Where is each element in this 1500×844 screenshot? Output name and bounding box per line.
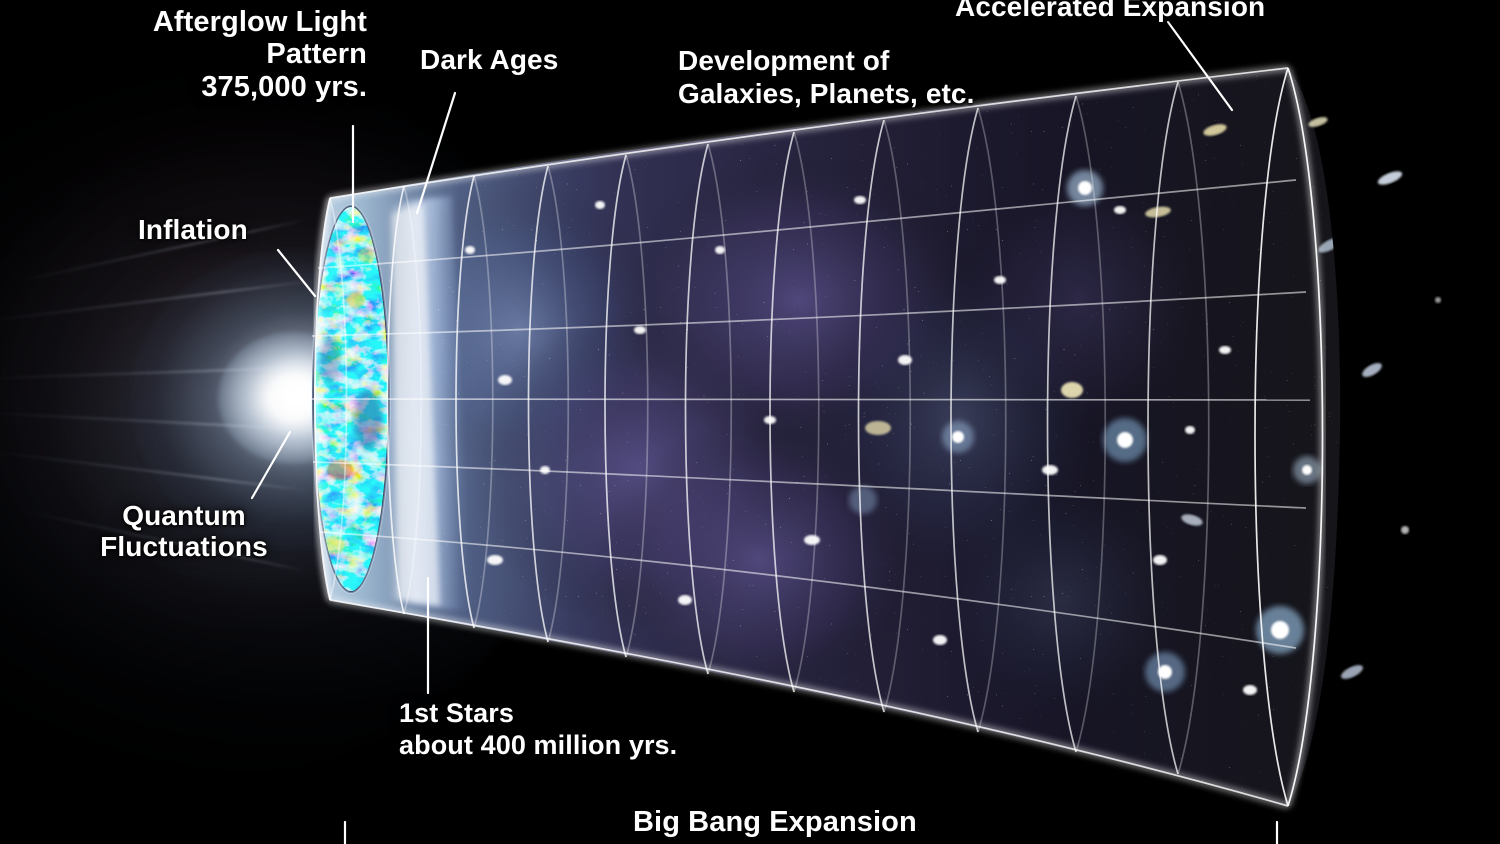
label-afterglow-light-pattern: Afterglow Light Pattern 375,000 yrs. [135,6,367,103]
leader-quantum [252,432,290,498]
label-dark-ages: Dark Ages [420,44,558,75]
label-big-bang-expansion: Big Bang Expansion [633,806,917,838]
label-inflation: Inflation [138,214,248,245]
universe-timeline-figure: Afterglow Light Pattern 375,000 yrs. Inf… [0,0,1500,844]
label-accelerated-expansion: Accelerated Expansion [955,0,1265,22]
label-development-of-galaxies: Development of Galaxies, Planets, etc. [678,44,974,110]
label-first-stars: 1st Stars about 400 million yrs. [399,697,677,762]
leader-inflation [278,250,315,296]
label-quantum-fluctuations: Quantum Fluctuations [86,500,282,563]
expanding-universe-funnel [0,0,1500,844]
